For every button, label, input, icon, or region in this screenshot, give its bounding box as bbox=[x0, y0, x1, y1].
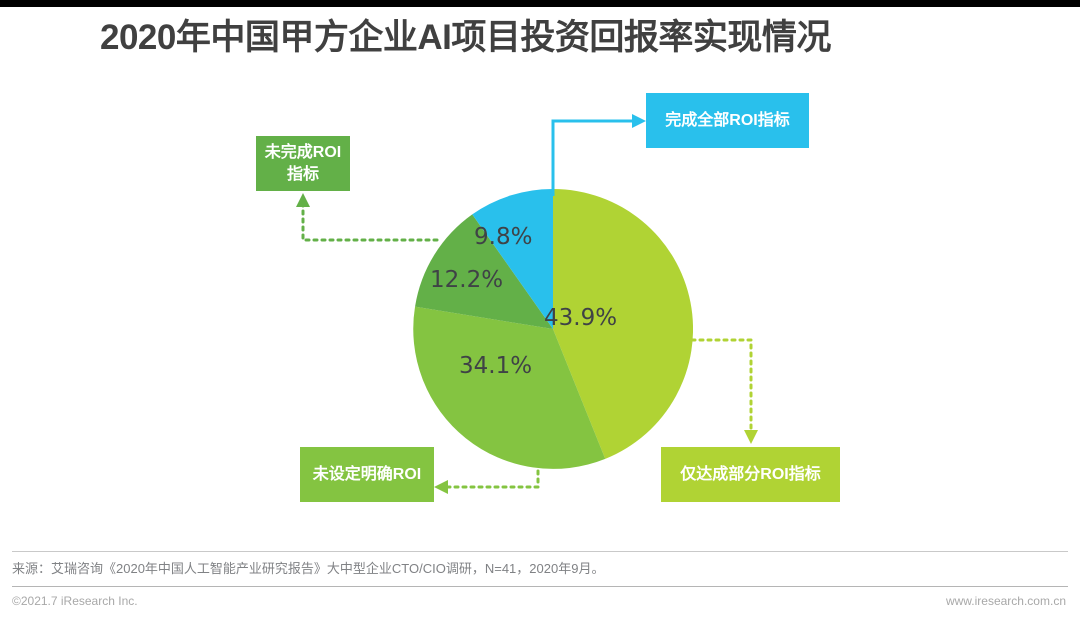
callout-full-roi-label: 完成全部ROI指标 bbox=[665, 110, 789, 132]
slide-canvas: 2020年中国甲方企业AI项目投资回报率实现情况 43.9% 34.1% 12.… bbox=[0, 0, 1080, 618]
pie-value-label-unmet-roi: 12.2% bbox=[430, 267, 503, 293]
callout-unmet-roi-label: 未完成ROI指标 bbox=[264, 142, 342, 186]
pie-value-label-no-defined-roi: 34.1% bbox=[459, 353, 532, 379]
copyright-text: ©2021.7 iResearch Inc. bbox=[12, 594, 138, 608]
source-divider bbox=[12, 551, 1068, 552]
callout-unmet-roi[interactable]: 未完成ROI指标 bbox=[256, 136, 350, 191]
callout-partial-roi-label: 仅达成部分ROI指标 bbox=[680, 464, 820, 486]
pie-value-label-full-roi: 9.8% bbox=[474, 224, 532, 250]
callout-full-roi[interactable]: 完成全部ROI指标 bbox=[646, 93, 809, 148]
callout-no-defined-roi[interactable]: 未设定明确ROI bbox=[300, 447, 434, 502]
callout-no-defined-roi-label: 未设定明确ROI bbox=[313, 464, 421, 486]
callout-partial-roi[interactable]: 仅达成部分ROI指标 bbox=[661, 447, 840, 502]
footer-divider bbox=[12, 586, 1068, 587]
top-accent-bar bbox=[0, 0, 1080, 7]
website-link[interactable]: www.iresearch.com.cn bbox=[946, 594, 1066, 608]
page-title: 2020年中国甲方企业AI项目投资回报率实现情况 bbox=[100, 16, 1000, 60]
connector-full-roi bbox=[553, 114, 646, 196]
source-note: 来源：艾瑞咨询《2020年中国人工智能产业研究报告》大中型企业CTO/CIO调研… bbox=[12, 558, 604, 577]
pie-value-label-partial-roi: 43.9% bbox=[544, 305, 617, 331]
